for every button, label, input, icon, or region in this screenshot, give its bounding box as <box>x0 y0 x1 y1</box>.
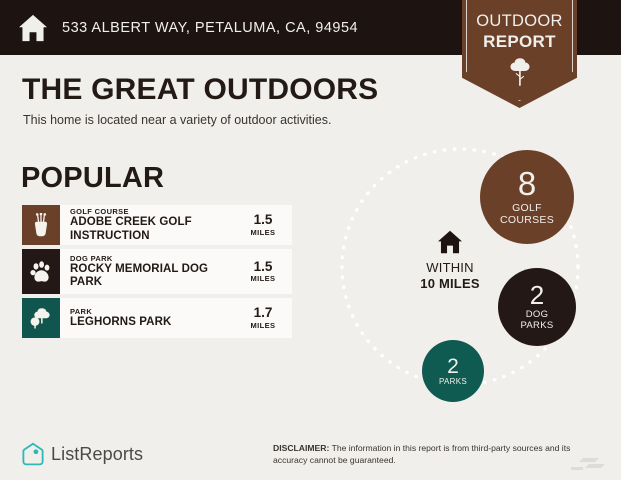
poi-name: ROCKY MEMORIAL DOG PARK <box>70 263 238 289</box>
stat-count: 2 <box>447 356 459 377</box>
poi-icon-box <box>22 249 60 294</box>
popular-places-list: GOLF COURSE ADOBE CREEK GOLF INSTRUCTION… <box>22 205 292 342</box>
list-item[interactable]: PARK LEGHORNS PARK 1.7 MILES <box>22 298 292 338</box>
popular-heading: POPULAR <box>21 162 164 195</box>
poi-category: DOG PARK <box>70 254 238 263</box>
golf-bag-icon <box>30 213 52 237</box>
list-item[interactable]: GOLF COURSE ADOBE CREEK GOLF INSTRUCTION… <box>22 205 292 245</box>
tree-icon <box>509 57 531 87</box>
poi-distance-unit: MILES <box>251 228 276 237</box>
poi-text: DOG PARK ROCKY MEMORIAL DOG PARK <box>60 249 238 294</box>
poi-distance: 1.5 MILES <box>238 249 292 294</box>
stat-label: PARKS <box>439 378 467 387</box>
poi-distance-unit: MILES <box>251 274 276 283</box>
poi-distance: 1.5 MILES <box>238 205 292 245</box>
stat-count: 2 <box>530 282 544 308</box>
poi-name: LEGHORNS PARK <box>70 316 238 329</box>
poi-text: GOLF COURSE ADOBE CREEK GOLF INSTRUCTION <box>60 205 238 245</box>
stat-circle-parks[interactable]: 2 PARKS <box>422 340 484 402</box>
poi-distance-unit: MILES <box>251 321 276 330</box>
stat-label-line1: PARKS <box>439 378 467 387</box>
poi-distance-value: 1.5 <box>254 213 273 228</box>
disclaimer-label: DISCLAIMER: <box>273 443 329 453</box>
page-title: THE GREAT OUTDOORS <box>22 73 378 107</box>
stat-label-line2: COURSES <box>500 215 554 227</box>
poi-text: PARK LEGHORNS PARK <box>60 298 238 338</box>
home-icon <box>18 14 48 42</box>
stat-count: 8 <box>518 167 536 200</box>
listreports-logo-text: ListReports <box>51 444 143 465</box>
disclaimer: DISCLAIMER: The information in this repo… <box>273 442 598 467</box>
poi-distance-value: 1.7 <box>254 306 273 321</box>
stat-label: DOG PARKS <box>520 310 553 331</box>
badge-title-line2: REPORT <box>462 32 577 52</box>
badge-title-line1: OUTDOOR <box>462 12 577 31</box>
outdoor-stats-diagram: WITHIN 10 MILES 8 GOLF COURSES 2 DOG PAR… <box>330 140 620 420</box>
outdoor-report-badge: OUTDOOR REPORT <box>462 0 577 108</box>
poi-category: GOLF COURSE <box>70 207 238 216</box>
poi-icon-box <box>22 298 60 338</box>
radius-label: 10 MILES <box>400 276 500 292</box>
diagram-center-label: WITHIN 10 MILES <box>400 230 500 291</box>
property-address: 533 ALBERT WAY, PETALUMA, CA, 94954 <box>62 20 358 36</box>
listreports-logo[interactable]: ListReports <box>22 442 143 466</box>
stat-circle-golf-courses[interactable]: 8 GOLF COURSES <box>480 150 574 244</box>
page-subtitle: This home is located near a variety of o… <box>23 113 331 127</box>
listreports-house-tag-icon <box>22 442 44 466</box>
paw-icon <box>29 260 53 284</box>
stat-label: GOLF COURSES <box>500 203 554 227</box>
stat-circle-dog-parks[interactable]: 2 DOG PARKS <box>498 268 576 346</box>
poi-distance: 1.7 MILES <box>238 298 292 338</box>
within-label: WITHIN <box>400 260 500 276</box>
stat-label-line2: PARKS <box>520 321 553 332</box>
poi-distance-value: 1.5 <box>254 260 273 275</box>
home-icon <box>437 230 463 254</box>
list-item[interactable]: DOG PARK ROCKY MEMORIAL DOG PARK 1.5 MIL… <box>22 249 292 294</box>
poi-name: ADOBE CREEK GOLF INSTRUCTION <box>70 216 238 242</box>
park-trees-icon <box>29 307 53 329</box>
poi-icon-box <box>22 205 60 245</box>
watermark-icon <box>569 456 613 472</box>
poi-category: PARK <box>70 307 238 316</box>
